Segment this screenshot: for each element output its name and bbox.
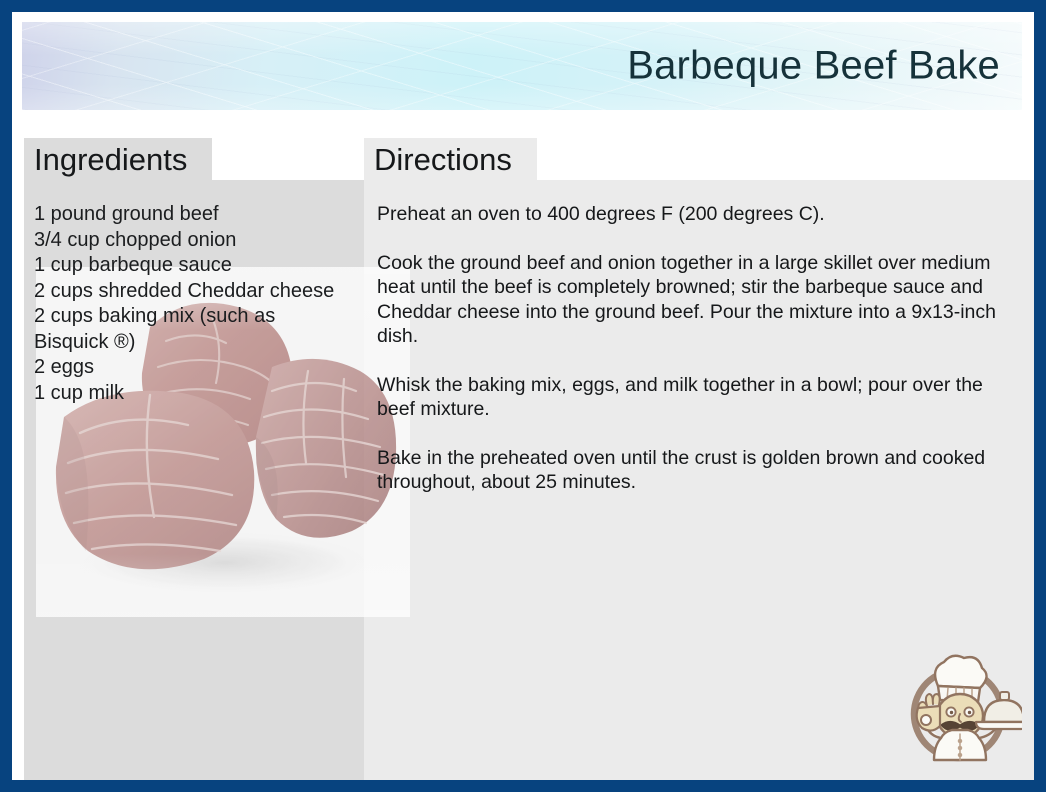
recipe-card: Barbeque Beef Bake Ingredients Direction… [0, 0, 1046, 792]
directions-section-tab: Directions [364, 138, 537, 180]
direction-step: Bake in the preheated oven until the cru… [377, 446, 1018, 495]
ingredient-item: 1 cup barbeque sauce [34, 253, 353, 279]
ingredient-item: 1 pound ground beef [34, 202, 353, 228]
ingredient-item: 2 cups shredded Cheddar cheese [34, 279, 353, 305]
ingredients-heading: Ingredients [34, 144, 187, 175]
ingredient-item: 3/4 cup chopped onion [34, 228, 353, 254]
ingredient-item: 2 cups baking mix (such as Bisquick ®) [34, 304, 353, 355]
direction-step: Preheat an oven to 400 degrees F (200 de… [377, 202, 1018, 227]
ingredients-panel: 1 pound ground beef3/4 cup chopped onion… [24, 180, 367, 792]
ingredients-section-tab: Ingredients [24, 138, 212, 180]
ingredients-list: 1 pound ground beef3/4 cup chopped onion… [34, 202, 353, 406]
chef-mascot-logo [900, 646, 1022, 768]
direction-step: Cook the ground beef and onion together … [377, 251, 1018, 349]
title-banner: Barbeque Beef Bake [22, 22, 1022, 110]
ingredient-item: 2 eggs [34, 355, 353, 381]
ingredient-item: 1 cup milk [34, 381, 353, 407]
direction-step: Whisk the baking mix, eggs, and milk tog… [377, 373, 1018, 422]
directions-steps-list: Preheat an oven to 400 degrees F (200 de… [377, 202, 1018, 495]
directions-heading: Directions [374, 144, 512, 175]
recipe-title: Barbeque Beef Bake [627, 44, 1000, 89]
